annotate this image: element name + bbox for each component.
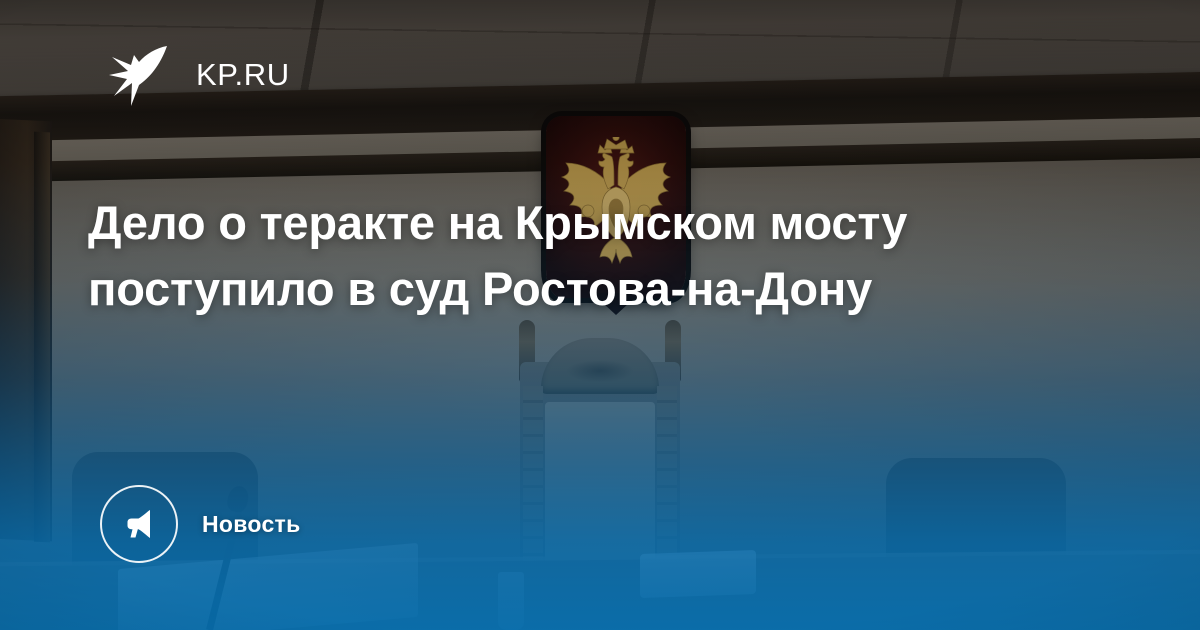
page-title: Дело о теракте на Крымском мосту поступи… [88, 190, 988, 322]
brand-wordmark: KP.RU [196, 59, 290, 90]
card-content: KP.RU Дело о теракте на Крымском мосту п… [0, 0, 1200, 630]
brand-lockup[interactable]: KP.RU [104, 36, 290, 112]
megaphone-icon [100, 485, 178, 563]
status-badge-label: Новость [202, 511, 301, 538]
status-badge: Новость [100, 487, 301, 561]
swallow-bird-logo-icon [104, 38, 176, 110]
news-share-card: KP.RU Дело о теракте на Крымском мосту п… [0, 0, 1200, 630]
